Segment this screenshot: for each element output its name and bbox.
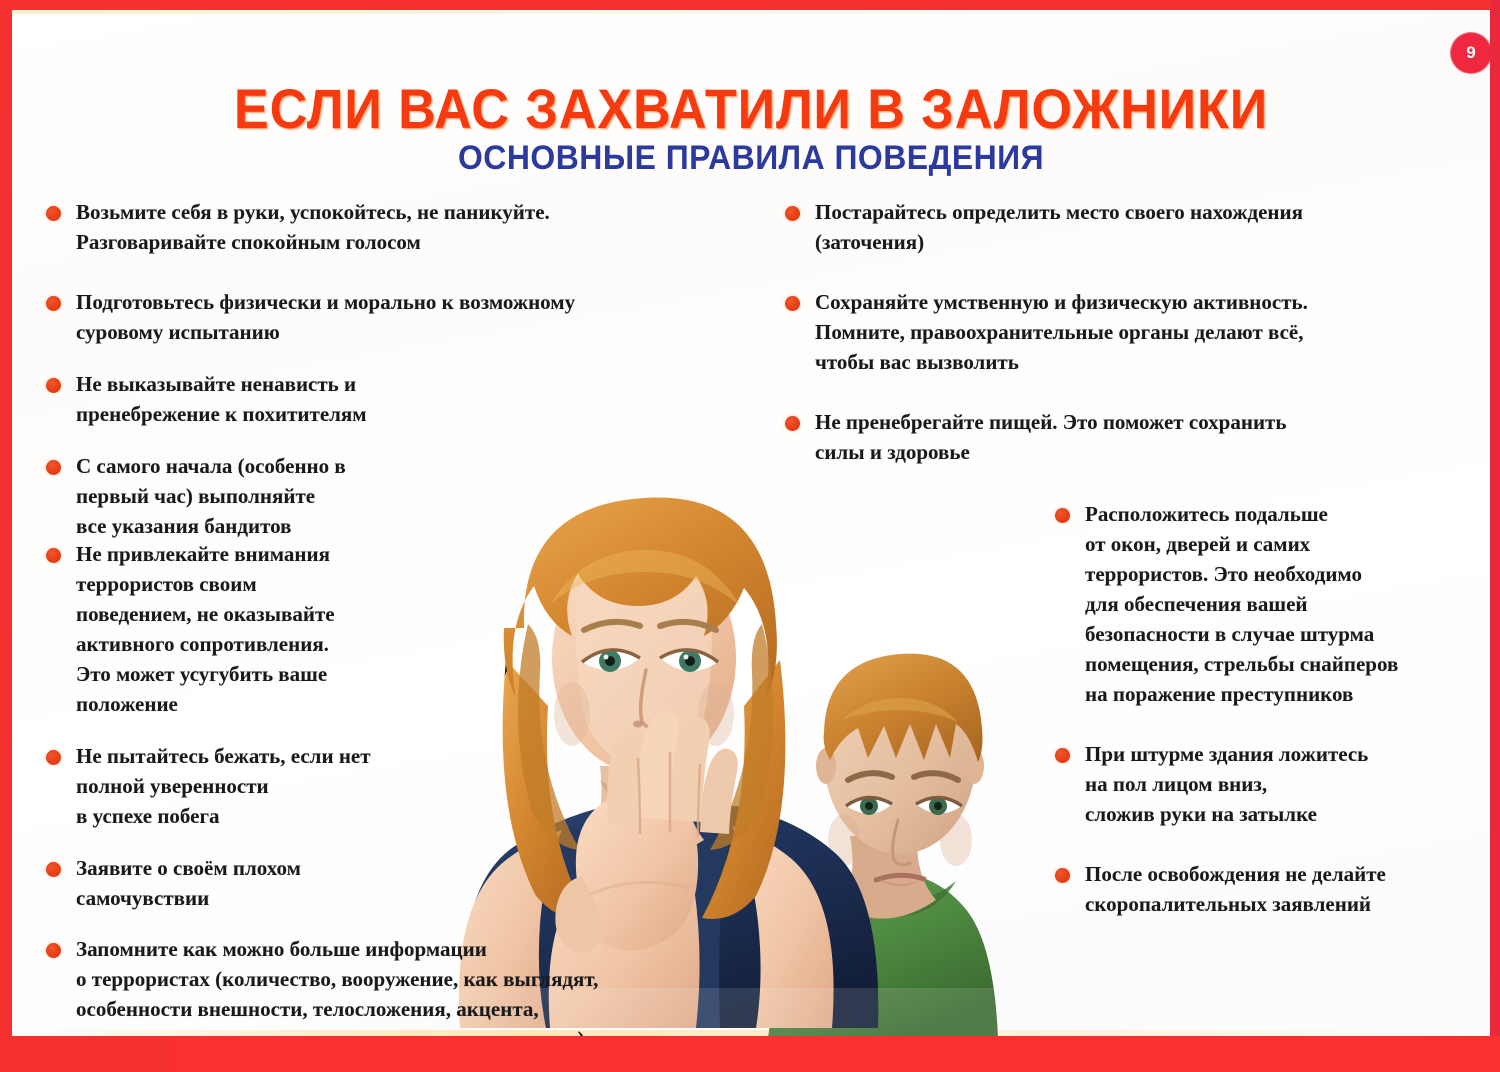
list-item: Расположитесь подальше от окон, дверей и… [1047,499,1467,709]
frame-band-right [1490,0,1500,1072]
boy-figure [768,654,998,1036]
list-item: Постарайтесь определить место своего нах… [777,197,1437,257]
list-item: Сохраняйте умственную и физическую актив… [777,287,1437,377]
list-item: После освобождения не делайте скоропалит… [1047,859,1467,919]
frame-band-left [0,0,12,1072]
list-item: Запомните как можно больше информации о … [38,934,736,1036]
list-item: Заявите о своём плохом самочувствии [38,853,438,913]
list-item: При штурме здания ложитесь на пол лицом … [1047,739,1467,829]
list-item: Не выказывайте ненависть и пренебрежение… [38,369,678,429]
list-item: Подготовьтесь физически и морально к воз… [38,287,678,347]
right-column-group-b: Расположитесь подальше от окон, дверей и… [1047,478,1467,933]
list-item: Не пренебрегайте пищей. Это поможет сохр… [777,407,1437,467]
left-column-group-b: Не привлекайте внимания террористов свои… [38,518,438,1036]
page-title: ЕСЛИ ВАС ЗАХВАТИЛИ В ЗАЛОЖНИКИ [64,79,1439,139]
poster-root: 9 ЕСЛИ ВАС ЗАХВАТИЛИ В ЗАЛОЖНИКИ ОСНОВНЫ… [0,0,1500,1072]
right-column-group-a: Постарайтесь определить место своего нах… [777,176,1437,481]
list-item: Возьмите себя в руки, успокойтесь, не па… [38,197,678,257]
page-surface: 9 ЕСЛИ ВАС ЗАХВАТИЛИ В ЗАЛОЖНИКИ ОСНОВНЫ… [12,10,1490,1036]
list-item: Не пытайтесь бежать, если нет полной уве… [38,741,438,831]
page-subtitle: ОСНОВНЫЕ ПРАВИЛА ПОВЕДЕНИЯ [56,138,1445,178]
frame-band-top-left [0,0,690,10]
page-number-badge: 9 [1450,32,1490,74]
list-item: Не привлекайте внимания террористов свои… [38,539,438,719]
frame-band-bottom-right [170,1036,1500,1072]
left-column-group-a: Возьмите себя в руки, успокойтесь, не па… [38,176,678,555]
